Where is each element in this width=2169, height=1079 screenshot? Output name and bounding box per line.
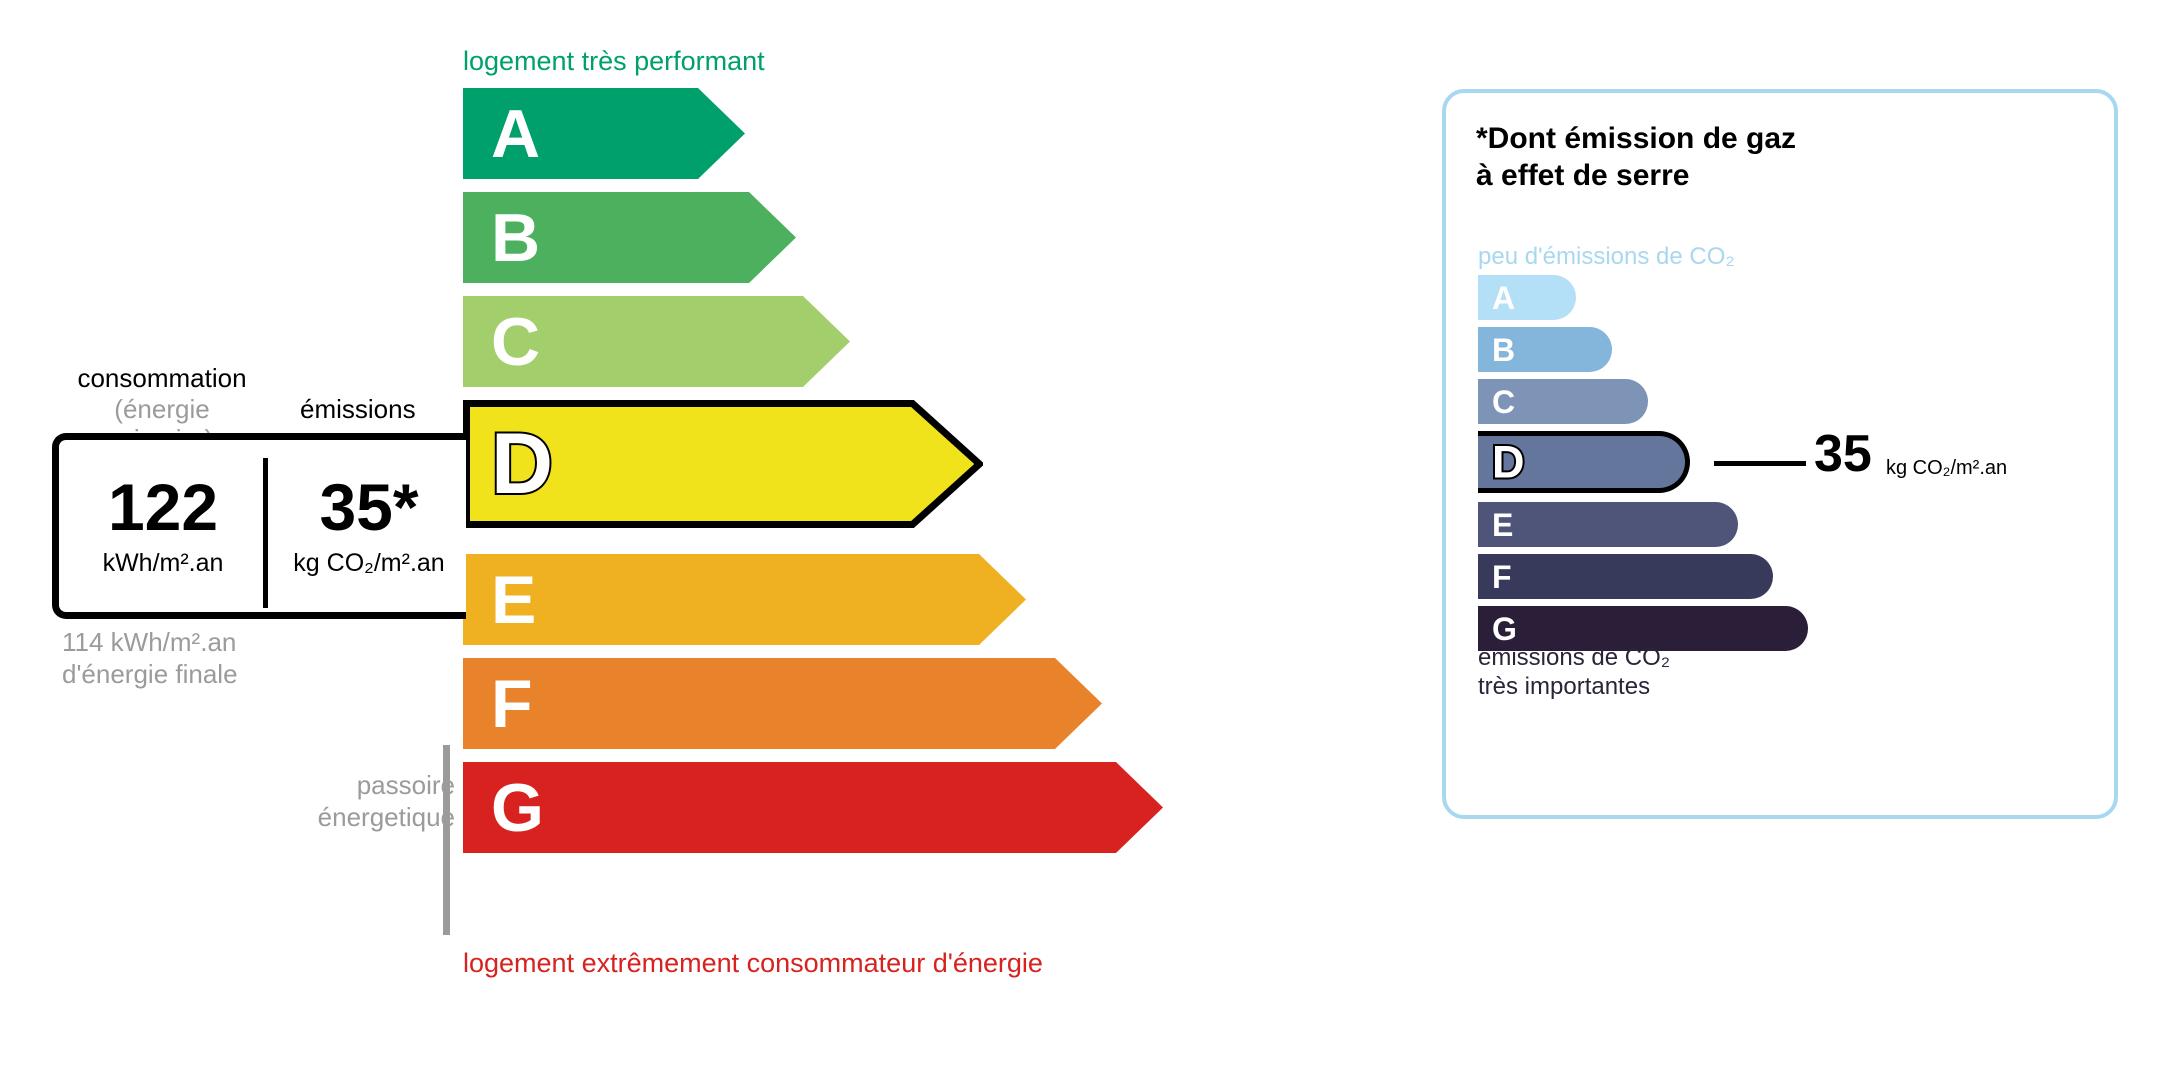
energy-class-row-d: D [463,400,1263,528]
passoire-line1: passoire [265,770,455,802]
energy-class-arrow-e [463,554,1026,645]
co2-class-bar-e [1478,502,1738,547]
energy-class-letter-g: G [491,774,544,842]
energy-class-arrow-g [463,762,1163,853]
energy-class-row-f: F [463,658,1263,749]
consumption-unit: kWh/m².an [103,549,224,578]
co2-bottom-caption: émissions de CO₂ très importantes [1478,643,1670,702]
energy-scale-top-caption: logement très performant [463,46,765,77]
co2-class-row-a: A [1478,275,2098,320]
co2-class-letter-e: E [1492,509,1513,541]
co2-bottom-line2: très importantes [1478,672,1670,701]
co2-class-row-b: B [1478,327,2098,372]
co2-class-letter-f: F [1492,561,1512,593]
co2-panel-title: *Dont émission de gaz à effet de serre [1476,121,1796,194]
energy-class-letter-a: A [491,100,540,168]
co2-title-line2: à effet de serre [1476,158,1796,195]
energy-class-arrow-list: ABCDEFG [463,88,1263,866]
value-box-divider [263,458,268,608]
energy-class-letter-e: E [491,566,536,634]
energy-class-row-c: C [463,296,1263,387]
co2-class-row-d: D35kg CO₂/m².an [1478,431,2098,493]
energy-class-letter-c: C [491,308,540,376]
energy-class-arrow-f [463,658,1102,749]
co2-class-row-e: E [1478,502,2098,547]
energy-class-row-a: A [463,88,1263,179]
co2-class-letter-c: C [1492,386,1515,418]
consumption-label-main: consommation [77,363,246,393]
final-energy-line2: d'énergie finale [62,659,238,691]
co2-top-caption: peu d'émissions de CO₂ [1478,243,1735,271]
co2-class-row-f: F [1478,554,2098,599]
passoire-line2: énergetique [265,802,455,834]
co2-emission-panel: *Dont émission de gaz à effet de serre p… [1442,89,2118,819]
emission-value-cell: 35* kg CO₂/m².an [271,440,467,612]
co2-value-connector-line [1714,461,1806,466]
final-energy-note: 114 kWh/m².an d'énergie finale [62,627,238,690]
co2-class-letter-b: B [1492,334,1515,366]
co2-title-line1: *Dont émission de gaz [1476,121,1796,158]
emissions-label: émissions [300,394,416,425]
energy-class-row-g: G [463,762,1263,853]
passoire-energetique-label: passoire énergetique [265,770,455,833]
co2-class-letter-a: A [1492,282,1515,314]
co2-selected-value: 35 [1814,428,1872,480]
energy-class-letter-f: F [491,670,533,738]
energy-class-letter-d: D [491,421,553,507]
energy-scale-bottom-caption: logement extrêmement consommateur d'éner… [463,948,1043,979]
measurement-value-box: 122 kWh/m².an 35* kg CO₂/m².an [52,433,466,619]
consumption-value: 122 [108,474,218,540]
co2-selected-value-unit: kg CO₂/m².an [1886,457,2007,480]
final-energy-line1: 114 kWh/m².an [62,627,238,659]
co2-class-row-c: C [1478,379,2098,424]
energy-performance-diagram: logement très performant ABCDEFG logemen… [0,0,1400,1079]
co2-class-bar-list: ABCD35kg CO₂/m².anEFG [1478,275,2098,658]
emission-unit: kg CO₂/m².an [293,549,444,578]
passoire-bracket [443,745,450,935]
energy-class-row-b: B [463,192,1263,283]
consumption-value-cell: 122 kWh/m².an [65,440,261,612]
co2-bottom-line1: émissions de CO₂ [1478,643,1670,672]
co2-class-letter-d: D [1492,440,1525,485]
co2-class-bar-f [1478,554,1773,599]
co2-class-letter-g: G [1492,613,1517,645]
energy-class-row-e: E [463,554,1263,645]
emission-value: 35* [319,474,418,540]
energy-class-letter-b: B [491,204,540,272]
